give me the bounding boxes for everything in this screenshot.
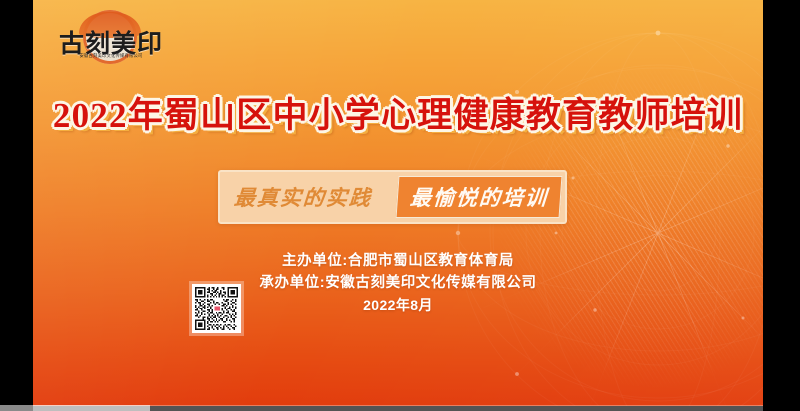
slogan-box: 最真实的实践 最愉悦的培训 (218, 170, 567, 224)
slogan-left-text: 最真实的实践 (219, 182, 383, 212)
progress-left-cap (0, 405, 33, 411)
slogan-right-text: 最愉悦的培训 (396, 176, 563, 218)
brand-logo: 古刻美印 安徽古刻美印文化传媒有限公司 (55, 8, 167, 74)
credits-block: 主办单位:合肥市蜀山区教育体育局 承办单位:安徽古刻美印文化传媒有限公司 202… (33, 250, 763, 316)
co-organizer-line: 承办单位:安徽古刻美印文化传媒有限公司 (33, 272, 763, 294)
video-player-screen: 古刻美印 安徽古刻美印文化传媒有限公司 2022年蜀山区中小学心理健康教育教师培… (0, 0, 800, 411)
logo-sub-text: 安徽古刻美印文化传媒有限公司 (55, 53, 167, 59)
progress-right-cap (763, 405, 800, 411)
poster-date: 2022年8月 (33, 294, 763, 316)
video-progress-fill (33, 405, 150, 411)
organizer-line: 主办单位:合肥市蜀山区教育体育局 (33, 250, 763, 272)
poster-canvas: 古刻美印 安徽古刻美印文化传媒有限公司 2022年蜀山区中小学心理健康教育教师培… (33, 0, 763, 406)
video-progress-bar[interactable] (33, 405, 763, 411)
letterbox-left (0, 0, 33, 411)
letterbox-right (763, 0, 800, 411)
poster-title: 2022年蜀山区中小学心理健康教育教师培训 (33, 95, 763, 137)
qr-code[interactable] (192, 284, 241, 333)
